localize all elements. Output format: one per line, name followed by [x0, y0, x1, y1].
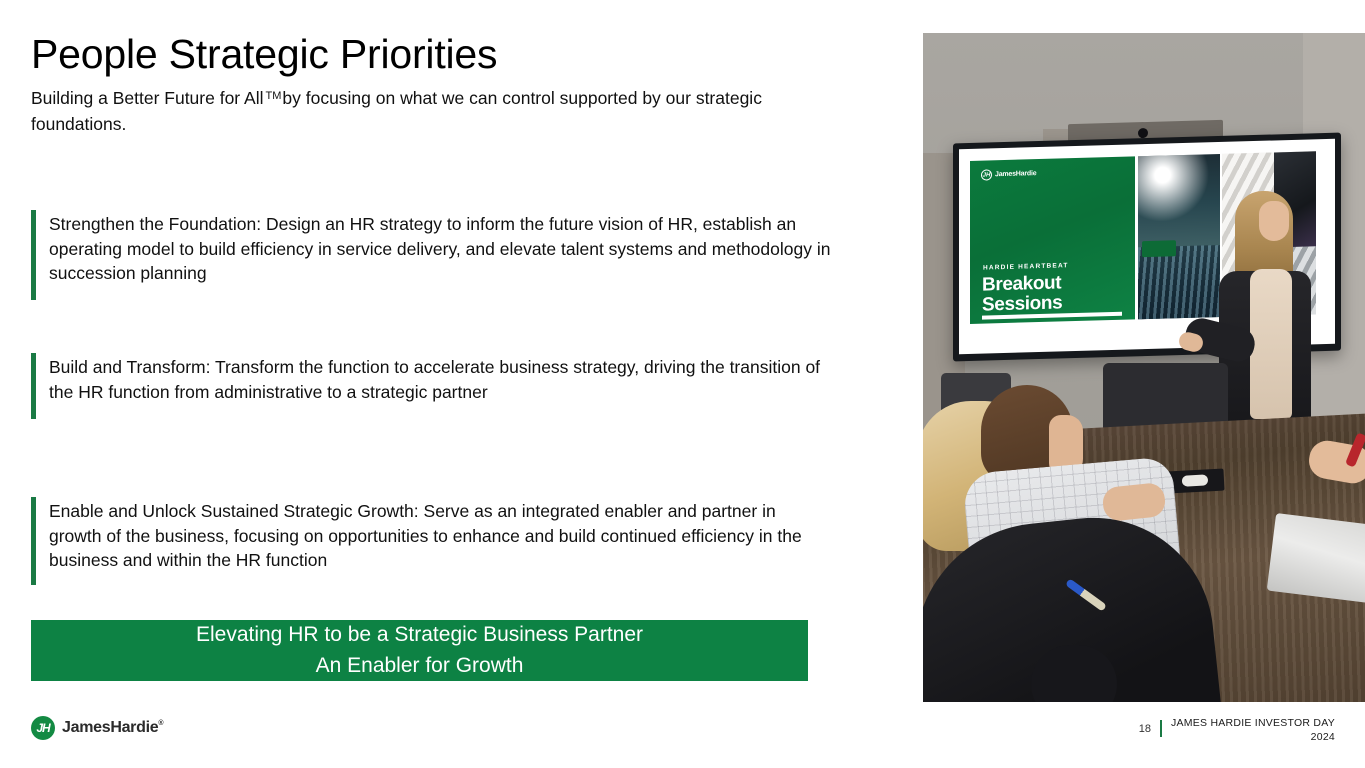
- subtitle-text-before: Building a Better Future for All: [31, 88, 263, 108]
- brand-name: JamesHardie: [62, 719, 158, 736]
- brand-logo-text: JamesHardie®: [62, 719, 163, 737]
- james-hardie-mark-icon: JH: [31, 716, 55, 740]
- slide-footer: 18 JAMES HARDIE INVESTOR DAY 2024: [1139, 716, 1335, 744]
- screen-logo: JH JamesHardie: [981, 168, 1036, 181]
- presenter-face: [1259, 201, 1289, 241]
- laptop-right: [1267, 513, 1365, 605]
- priority-item-1: Strengthen the Foundation: Design an HR …: [31, 210, 831, 300]
- accent-bar-icon: [31, 497, 36, 585]
- banner-line-1: Elevating HR to be a Strategic Business …: [196, 620, 643, 651]
- accent-bar-icon: [31, 210, 36, 300]
- priority-item-1-text: Strengthen the Foundation: Design an HR …: [49, 210, 831, 289]
- page-number: 18: [1139, 716, 1151, 735]
- spacer: [31, 419, 831, 497]
- screen-photo-left: [1138, 154, 1220, 319]
- priority-item-3: Enable and Unlock Sustained Strategic Gr…: [31, 497, 831, 585]
- screen-logo-mark-icon: JH: [981, 169, 992, 180]
- banner-line-2: An Enabler for Growth: [316, 651, 524, 682]
- page-subtitle: Building a Better Future for AllTMby foc…: [31, 86, 821, 137]
- brand-logo: JH JamesHardie®: [31, 716, 163, 740]
- screen-heading-line-2: Sessions: [982, 293, 1062, 315]
- priority-item-2-text: Build and Transform: Transform the funct…: [49, 353, 831, 407]
- priority-item-2: Build and Transform: Transform the funct…: [31, 353, 831, 419]
- footer-divider: [1160, 720, 1162, 737]
- priority-item-3-text: Enable and Unlock Sustained Strategic Gr…: [49, 497, 831, 576]
- deck-name-line-1: JAMES HARDIE INVESTOR DAY: [1171, 716, 1335, 730]
- priority-list: Strengthen the Foundation: Design an HR …: [31, 210, 831, 585]
- screen-logo-text: JamesHardie: [995, 170, 1036, 178]
- conference-room-photo: JH JamesHardie HARDIE HEARTBEAT Breakout…: [923, 33, 1365, 702]
- slide: People Strategic Priorities Building a B…: [0, 0, 1365, 768]
- trademark-mark: TM: [263, 90, 282, 102]
- summary-banner: Elevating HR to be a Strategic Business …: [31, 620, 808, 681]
- registered-mark: ®: [158, 720, 163, 727]
- deck-name-line-2: 2024: [1171, 730, 1335, 744]
- screen-kicker: HARDIE HEARTBEAT: [983, 262, 1069, 271]
- deck-name: JAMES HARDIE INVESTOR DAY 2024: [1171, 716, 1335, 744]
- screen-heading: Breakout Sessions: [982, 273, 1062, 315]
- screen-slide-panel: JH JamesHardie HARDIE HEARTBEAT Breakout…: [970, 156, 1135, 324]
- table-power-puck: [1167, 469, 1224, 494]
- page-title: People Strategic Priorities: [31, 33, 497, 76]
- accent-bar-icon: [31, 353, 36, 419]
- spacer: [31, 300, 831, 353]
- presenter-scarf: [1250, 269, 1292, 419]
